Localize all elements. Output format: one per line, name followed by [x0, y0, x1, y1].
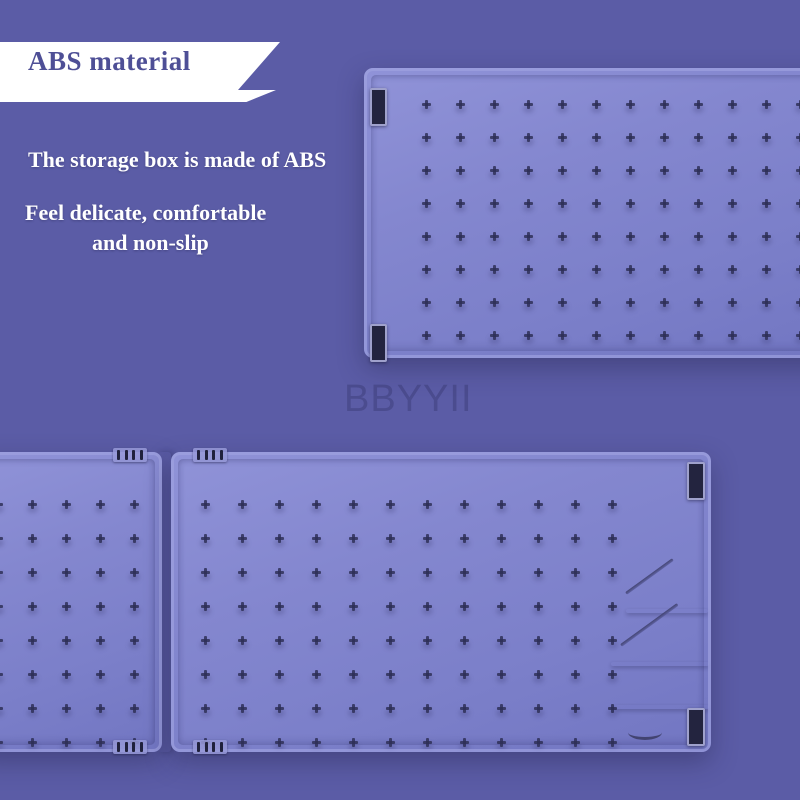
bottom-right-tray-hinge-top-right	[687, 462, 705, 500]
bottom-right-tray-latch-bottom	[193, 740, 227, 754]
bottom-right-tray	[171, 452, 711, 752]
watermark-text: BBYYII	[344, 378, 473, 421]
top-tray-hinge-upper-left	[370, 88, 387, 126]
banner: ABS material	[0, 42, 280, 90]
banner-title: ABS material	[28, 46, 191, 77]
bottom-left-tray	[0, 452, 162, 752]
bottom-right-tray-inner-surface	[178, 459, 704, 745]
headline-line-2: Feel delicate, comfortable	[25, 200, 266, 226]
bottom-right-tray-hinge-bottom-right	[687, 708, 705, 746]
compartment-arc	[628, 725, 662, 740]
top-tray-inner-surface	[371, 75, 800, 351]
headline-line-1: The storage box is made of ABS	[28, 147, 326, 173]
bottom-left-tray-latch-bottom	[113, 740, 147, 754]
headline-line-3: and non-slip	[92, 230, 209, 256]
bottom-right-tray-latch-top	[193, 448, 227, 462]
product-marketing-image: BBYYII ABS material The storage box is m…	[0, 0, 800, 800]
top-tray	[364, 68, 800, 358]
bottom-left-tray-latch-top	[113, 448, 147, 462]
compartment-rail-2	[611, 662, 709, 666]
top-tray-hinge-lower-left	[370, 324, 387, 362]
bottom-left-tray-inner-surface	[0, 459, 155, 745]
banner-underline-strip	[0, 90, 276, 102]
